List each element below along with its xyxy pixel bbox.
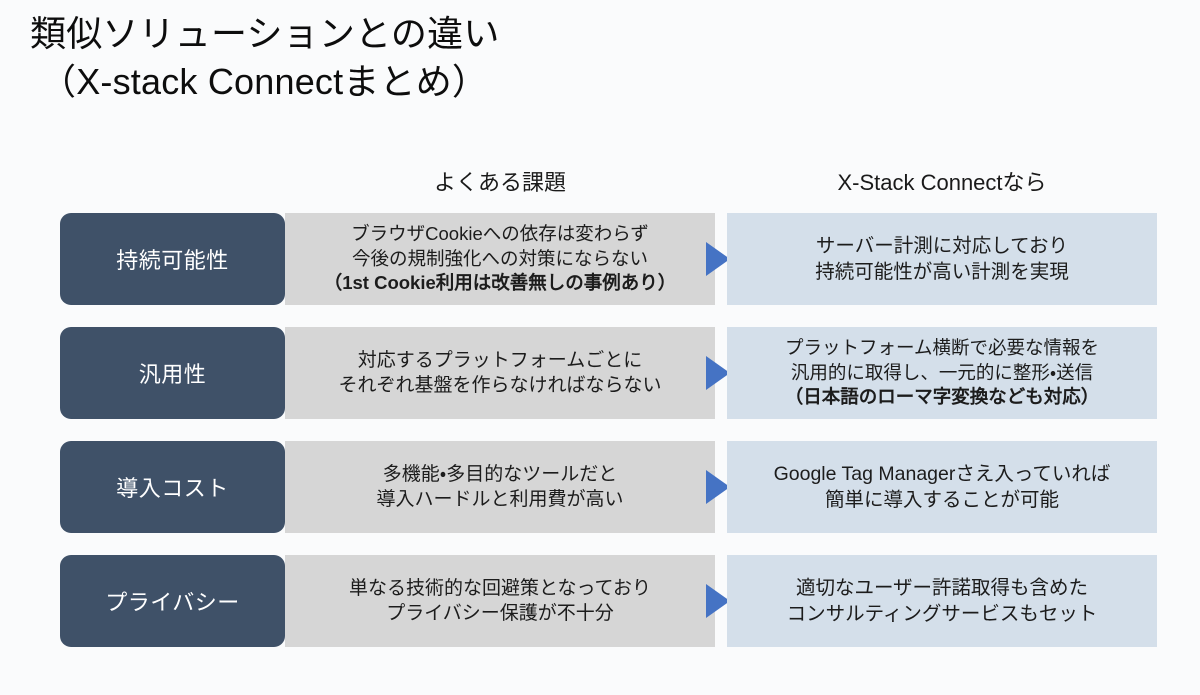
row-label-box: プライバシー — [60, 555, 285, 647]
solution-text: サーバー計測に対応しており持続可能性が高い計測を実現 — [727, 233, 1157, 285]
solution-text: 適切なユーザー許諾取得も含めたコンサルティングサービスもセット — [727, 575, 1157, 627]
problem-cell: ブラウザCookieへの依存は変わらず今後の規制強化への対策にならない（1st … — [285, 213, 715, 305]
row-label-box: 持続可能性 — [60, 213, 285, 305]
problem-text-line: 今後の規制強化への対策にならない — [291, 247, 709, 272]
problem-text-line: 導入ハードルと利用費が高い — [291, 487, 709, 512]
table-row: 持続可能性ブラウザCookieへの依存は変わらず今後の規制強化への対策にならない… — [0, 213, 1200, 305]
solution-text-line: 簡単に導入することが可能 — [733, 487, 1151, 513]
solution-cell: サーバー計測に対応しており持続可能性が高い計測を実現 — [727, 213, 1157, 305]
solution-text-line: （日本語のローマ字変換なども対応） — [733, 385, 1151, 410]
solution-cell: プラットフォーム横断で必要な情報を汎用的に取得し、一元的に整形・送信（日本語のロ… — [727, 327, 1157, 419]
column-header-problem: よくある課題 — [285, 165, 715, 197]
problem-text: 単なる技術的な回避策となっておりプライバシー保護が不十分 — [285, 576, 715, 627]
solution-text-line: 適切なユーザー許諾取得も含めた — [733, 575, 1151, 601]
problem-text-line: それぞれ基盤を作らなければならない — [291, 373, 709, 398]
solution-text-line: 持続可能性が高い計測を実現 — [733, 259, 1151, 285]
row-label-box: 導入コスト — [60, 441, 285, 533]
solution-text: プラットフォーム横断で必要な情報を汎用的に取得し、一元的に整形・送信（日本語のロ… — [727, 336, 1157, 410]
column-headers: よくある課題 X-Stack Connectなら — [0, 165, 1200, 197]
problem-text-line: 多機能・多目的なツールだと — [291, 462, 709, 487]
problem-cell: 対応するプラットフォームごとにそれぞれ基盤を作らなければならない — [285, 327, 715, 419]
row-label-text: 汎用性 — [139, 357, 207, 389]
comparison-table: 持続可能性ブラウザCookieへの依存は変わらず今後の規制強化への対策にならない… — [0, 213, 1200, 669]
solution-cell: 適切なユーザー許諾取得も含めたコンサルティングサービスもセット — [727, 555, 1157, 647]
problem-text: ブラウザCookieへの依存は変わらず今後の規制強化への対策にならない（1st … — [285, 222, 715, 296]
problem-text-line: 単なる技術的な回避策となっており — [291, 576, 709, 601]
table-row: 汎用性対応するプラットフォームごとにそれぞれ基盤を作らなければならないプラットフ… — [0, 327, 1200, 419]
page-title-line-1: 類似ソリューションとの違い — [30, 10, 1030, 58]
solution-text-line: プラットフォーム横断で必要な情報を — [733, 336, 1151, 361]
solution-text-line: サーバー計測に対応しており — [733, 233, 1151, 259]
solution-text-line: コンサルティングサービスもセット — [733, 601, 1151, 627]
column-header-solution: X-Stack Connectなら — [727, 165, 1157, 197]
page-title: 類似ソリューションとの違い （X-stack Connectまとめ） — [30, 10, 1030, 106]
problem-text: 対応するプラットフォームごとにそれぞれ基盤を作らなければならない — [285, 348, 715, 399]
row-label-box: 汎用性 — [60, 327, 285, 419]
problem-text-line: プライバシー保護が不十分 — [291, 601, 709, 626]
table-row: プライバシー単なる技術的な回避策となっておりプライバシー保護が不十分適切なユーザ… — [0, 555, 1200, 647]
row-label-text: 導入コスト — [116, 471, 229, 503]
page-title-line-2: （X-stack Connectまとめ） — [30, 58, 1030, 106]
problem-text-line: ブラウザCookieへの依存は変わらず — [291, 222, 709, 247]
problem-cell: 多機能・多目的なツールだと導入ハードルと利用費が高い — [285, 441, 715, 533]
solution-text-line: 汎用的に取得し、一元的に整形・送信 — [733, 361, 1151, 386]
problem-text-line: 対応するプラットフォームごとに — [291, 348, 709, 373]
problem-cell: 単なる技術的な回避策となっておりプライバシー保護が不十分 — [285, 555, 715, 647]
table-row: 導入コスト多機能・多目的なツールだと導入ハードルと利用費が高いGoogle Ta… — [0, 441, 1200, 533]
row-label-text: 持続可能性 — [116, 243, 229, 275]
solution-text: Google Tag Managerさえ入っていれば簡単に導入することが可能 — [727, 461, 1157, 513]
problem-text: 多機能・多目的なツールだと導入ハードルと利用費が高い — [285, 462, 715, 513]
solution-text-line: Google Tag Managerさえ入っていれば — [733, 461, 1151, 487]
row-label-text: プライバシー — [105, 585, 240, 617]
problem-text-line: （1st Cookie利用は改善無しの事例あり） — [291, 271, 709, 296]
solution-cell: Google Tag Managerさえ入っていれば簡単に導入することが可能 — [727, 441, 1157, 533]
